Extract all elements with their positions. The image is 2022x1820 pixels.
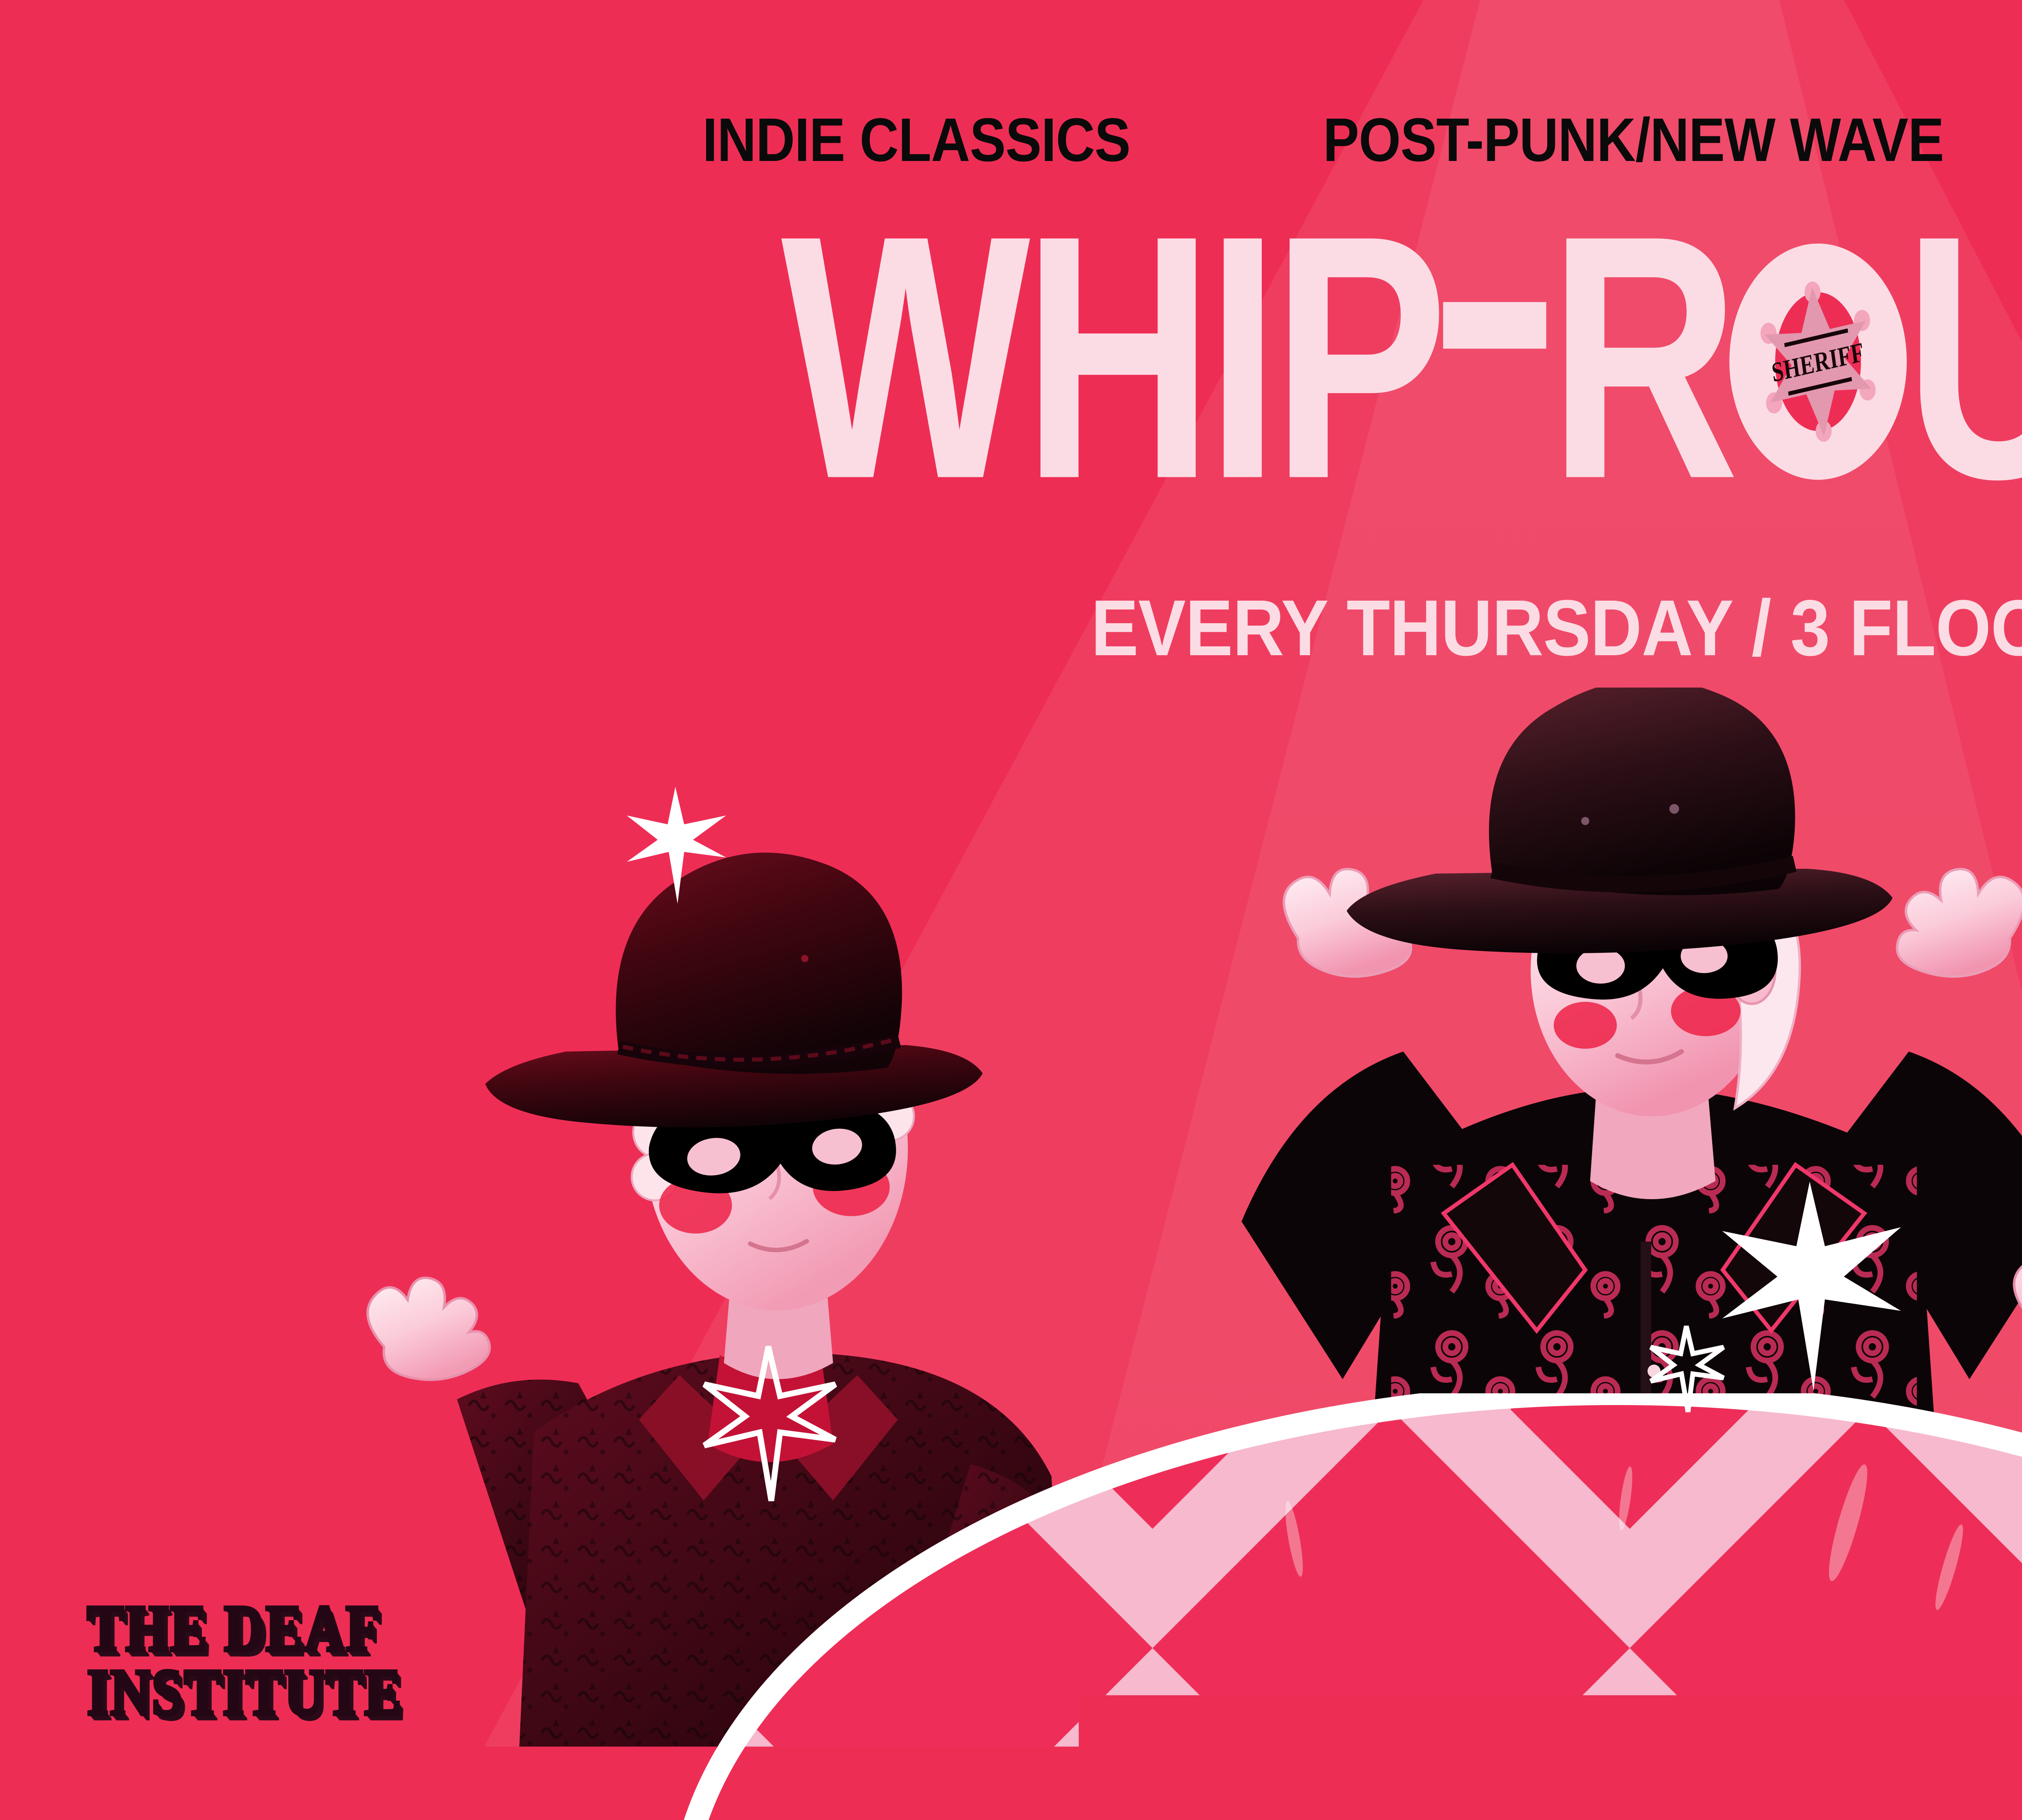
title-part-two: UND bbox=[1904, 208, 2022, 507]
event-poster: INDIE CLASSICS POST-PUNK/NEW WAVE EMO AN… bbox=[0, 0, 2022, 1820]
cowboy-hat-icon bbox=[1347, 688, 1893, 953]
cowboy-hat-icon bbox=[485, 853, 983, 1128]
star-left-hat-icon bbox=[619, 785, 732, 906]
genre-item-2: POST-PUNK/NEW WAVE bbox=[1323, 109, 1944, 171]
genre-item-1: INDIE CLASSICS bbox=[702, 109, 1130, 171]
harlequin-dome bbox=[663, 1393, 2022, 1820]
star-center-small-icon bbox=[1646, 1323, 1727, 1416]
genre-tagline-strip: INDIE CLASSICS POST-PUNK/NEW WAVE EMO AN… bbox=[0, 109, 2022, 171]
title-em-dash bbox=[1443, 302, 1546, 349]
title-block: WHIP R bbox=[0, 208, 2022, 431]
subtitle: EVERY THURSDAY / 3 FLOORS bbox=[162, 588, 2022, 668]
venue-logo-line-2: INSTITUTE bbox=[87, 1661, 403, 1724]
star-center-large-icon bbox=[1715, 1181, 1905, 1391]
main-title: WHIP R bbox=[781, 208, 2022, 507]
title-part-one: WHIP bbox=[781, 208, 1441, 507]
left-hand bbox=[368, 1278, 490, 1380]
sheriff-badge-icon: SHERIFF bbox=[1750, 273, 1886, 451]
title-letter-r: R bbox=[1549, 208, 1732, 507]
title-letter-o-with-badge: SHERIFF bbox=[1730, 243, 1907, 480]
venue-logo[interactable]: THE DEAF INSTITUTE bbox=[87, 1597, 397, 1713]
venue-logo-line-1: THE DEAF bbox=[87, 1597, 403, 1660]
star-left-shirt-icon bbox=[696, 1343, 841, 1505]
left-hand bbox=[2014, 1251, 2022, 1354]
